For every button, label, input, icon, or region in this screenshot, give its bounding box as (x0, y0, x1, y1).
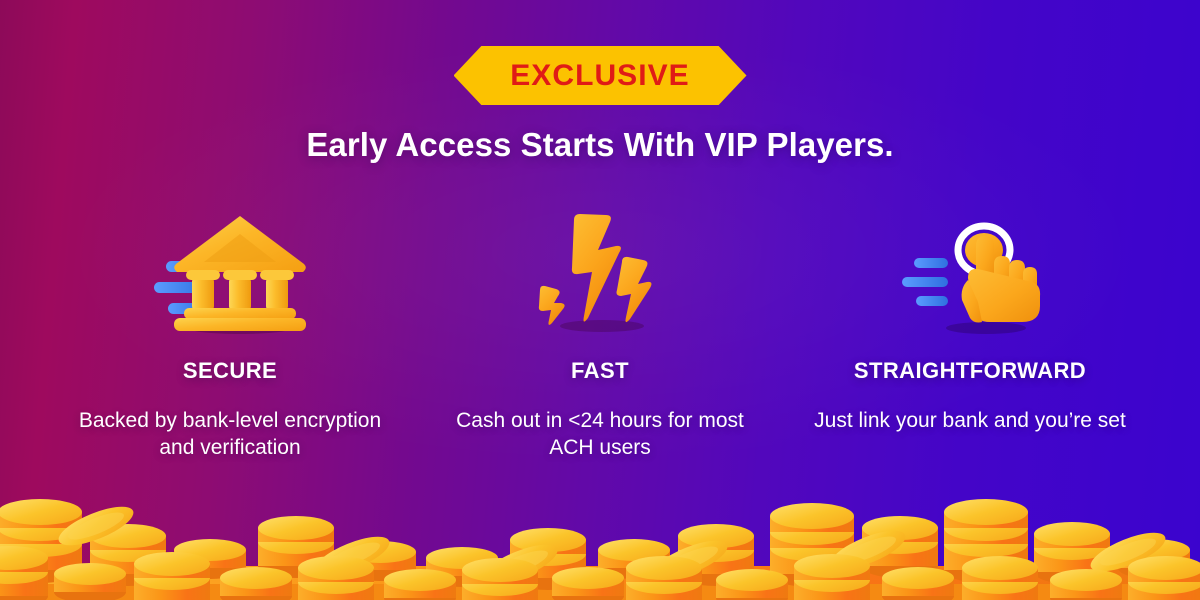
feature-item-straightforward: STRAIGHTFORWARD Just link your bank and … (800, 206, 1140, 435)
gold-coins-border (0, 480, 1200, 600)
feature-description: Cash out in <24 hours for most ACH users (440, 408, 760, 462)
feature-list: SECURE Backed by bank-level encryption a… (60, 206, 1140, 462)
exclusive-badge: EXCLUSIVE (454, 46, 747, 105)
page-title: Early Access Starts With VIP Players. (0, 126, 1200, 164)
promo-banner: EXCLUSIVE Early Access Starts With VIP P… (0, 0, 1200, 600)
exclusive-badge-label: EXCLUSIVE (510, 61, 690, 91)
feature-item-fast: FAST Cash out in <24 hours for most ACH … (430, 206, 770, 462)
feature-item-secure: SECURE Backed by bank-level encryption a… (60, 206, 400, 462)
feature-title: STRAIGHTFORWARD (854, 358, 1086, 384)
lightning-bolt-icon (530, 206, 670, 336)
exclusive-badge-wrap: EXCLUSIVE (0, 46, 1200, 105)
bank-icon (144, 206, 316, 336)
feature-description: Backed by bank-level encryption and veri… (70, 408, 390, 462)
tap-hand-icon (890, 206, 1050, 336)
feature-description: Just link your bank and you’re set (814, 408, 1126, 435)
feature-title: SECURE (183, 358, 277, 384)
feature-title: FAST (571, 358, 629, 384)
